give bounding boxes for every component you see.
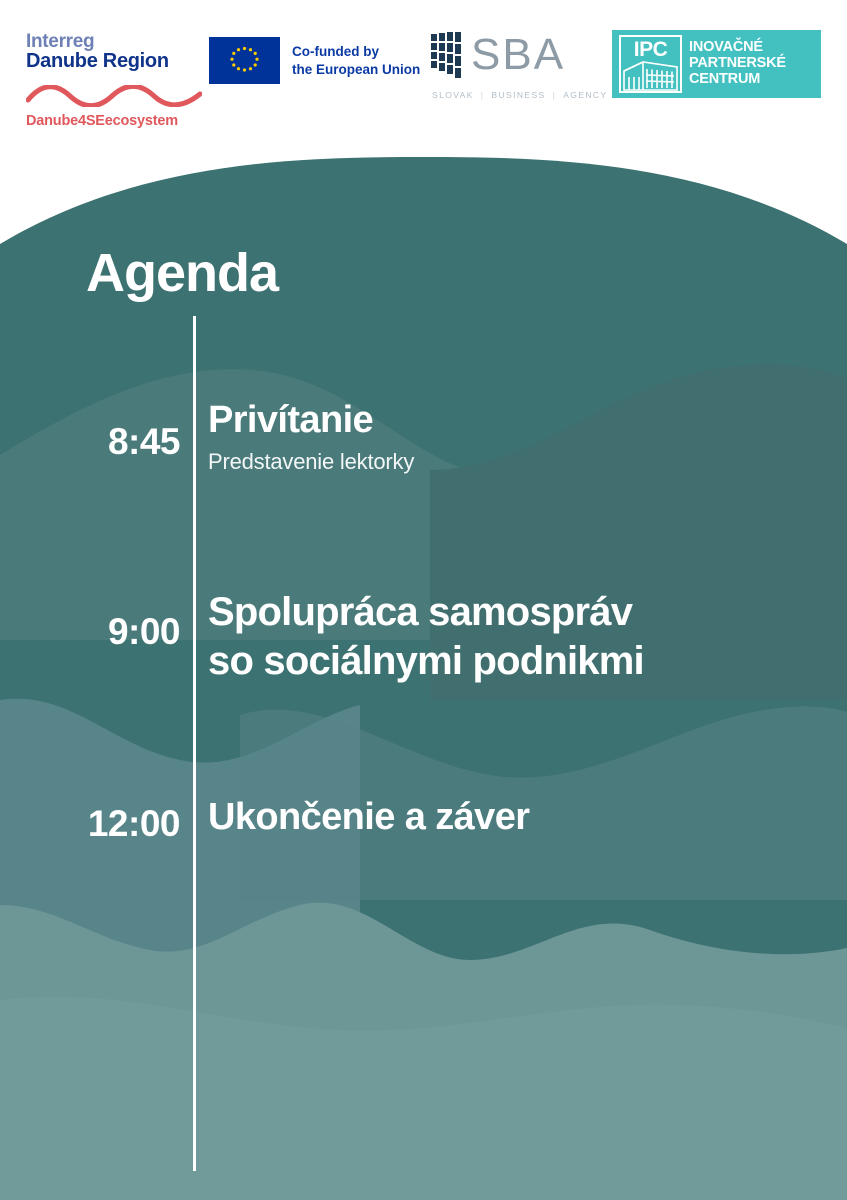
agenda-poster: Interreg Danube Region Danube4SEecosyste… [0,0,847,1200]
wave-icon [26,85,202,107]
sba-primary-row: SBA [430,30,580,80]
logo-ipc: IPC INOVAČNÉ PARTNERSKÉ CENTRUM [612,30,821,98]
timeline-divider [193,316,196,1171]
agenda-row-title-line1: Spolupráca samospráv [208,588,828,637]
eu-cofunding-text: Co-funded by the European Union [292,43,420,78]
eu-flag-icon [209,37,280,84]
ipc-wordmark: INOVAČNÉ PARTNERSKÉ CENTRUM [689,40,786,88]
agenda-row-time: 9:00 [0,613,180,650]
ipc-word-line2: PARTNERSKÉ [689,56,786,72]
agenda-row-subtitle: Predstavenie lektorky [208,449,828,475]
agenda-row-body: Ukončenie a záver [208,797,828,839]
logo-european-union: Co-funded by the European Union [209,37,420,84]
agenda-row-title: Ukončenie a záver [208,797,828,839]
sba-tagline-business: BUSINESS [491,90,545,100]
agenda-row-title-line2: so sociálnymi podnikmi [208,637,828,686]
sba-tagline-slovak: SLOVAK [432,90,474,100]
page-title: Agenda [86,246,278,300]
ipc-word-line1: INOVAČNÉ [689,40,786,56]
sba-tagline: SLOVAK | BUSINESS | AGENCY [430,90,580,100]
agenda-content: Agenda 8:45 Privítanie Predstavenie lekt… [0,0,847,1200]
sba-tagline-agency: AGENCY [563,90,607,100]
agenda-row-body: Privítanie Predstavenie lektorky [208,400,828,475]
building-icon [621,57,680,91]
eu-text-line1: Co-funded by [292,43,420,60]
logo-interreg-danube-region: Interreg Danube Region Danube4SEecosyste… [26,32,211,129]
eu-text-line2: the European Union [292,61,420,78]
interreg-wordmark-line2: Danube Region [26,51,211,72]
interreg-wordmark-line1: Interreg [26,32,211,51]
partner-logo-bar: Interreg Danube Region Danube4SEecosyste… [0,0,847,150]
ipc-word-line3: CENTRUM [689,72,786,88]
agenda-row-body: Spolupráca samospráv so sociálnymi podni… [208,588,828,686]
agenda-row-title: Privítanie [208,400,828,442]
agenda-row-time: 8:45 [0,423,180,460]
sba-letters: SBA [471,32,565,78]
danube4se-label: Danube4SEecosystem [26,113,211,129]
sba-grid-icon [430,32,464,78]
ipc-mark: IPC [619,35,682,93]
logo-slovak-business-agency: SBA SLOVAK | BUSINESS | AGENCY [430,30,580,100]
agenda-row-time: 12:00 [0,805,180,842]
sba-tagline-sep-2: | [553,90,557,100]
sba-tagline-sep-1: | [481,90,485,100]
